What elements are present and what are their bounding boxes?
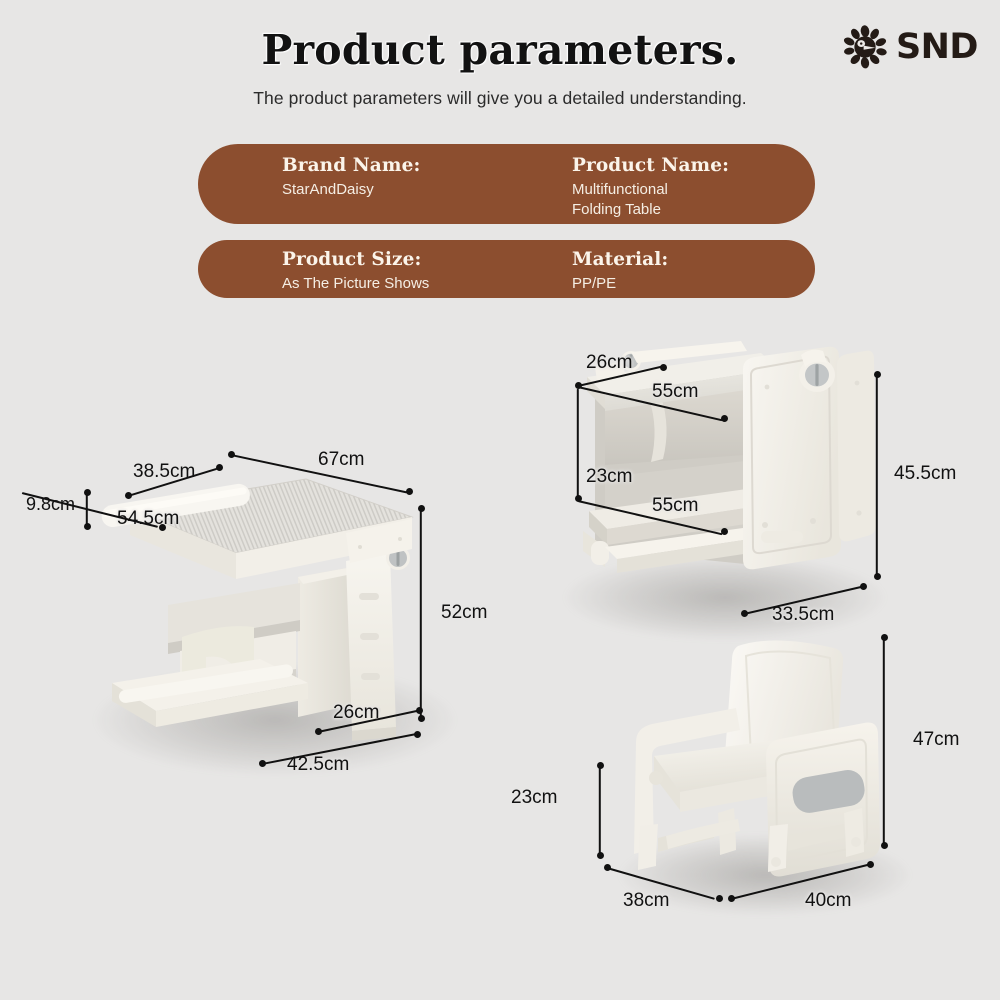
parameter-cell-product-size: Product Size: As The Picture Shows — [282, 240, 572, 294]
dim-line-desk-open-total-height — [420, 509, 422, 719]
dim-line-desk-folded-total-height — [876, 375, 878, 577]
parameter-row-2: Product Size: As The Picture Shows Mater… — [198, 240, 815, 298]
dim-dot — [874, 573, 881, 580]
dim-dot — [728, 895, 735, 902]
parameter-value: StarAndDaisy — [282, 180, 572, 200]
parameter-cell-material: Material: PP/PE — [572, 240, 802, 294]
dim-label-chair-seat-height: 23cm — [511, 787, 557, 809]
parameter-row-1: Brand Name: StarAndDaisy Product Name: M… — [198, 144, 815, 224]
dim-dot — [597, 852, 604, 859]
dim-label-desk-open-top-depth: 38.5cm — [133, 461, 195, 483]
parameter-label: Product Name: — [572, 154, 802, 177]
dim-dot — [414, 731, 421, 738]
parameter-label: Material: — [572, 248, 802, 271]
parameter-cell-brand-name: Brand Name: StarAndDaisy — [282, 144, 572, 200]
dim-dot — [418, 715, 425, 722]
dim-line-desk-folded-shelf-height — [577, 389, 579, 499]
dim-dot — [597, 762, 604, 769]
dim-dot — [874, 371, 881, 378]
dim-label-desk-folded-depth: 33.5cm — [772, 604, 834, 626]
dim-dot — [125, 492, 132, 499]
dim-dot — [881, 634, 888, 641]
dim-dot — [660, 364, 667, 371]
dim-line-chair-seat-height — [599, 766, 601, 856]
infographic-canvas: Product parameters. The product paramete… — [0, 0, 1000, 1000]
dim-label-desk-folded-shelf-height: 23cm — [586, 466, 632, 488]
parameter-value: As The Picture Shows — [282, 274, 572, 294]
dim-dot — [418, 505, 425, 512]
dim-label-chair-width: 40cm — [805, 890, 851, 912]
dim-line-chair-back-height — [883, 638, 885, 846]
dim-dot — [159, 524, 166, 531]
dim-dot — [84, 489, 91, 496]
dim-label-desk-folded-lower-width: 55cm — [652, 495, 698, 517]
page-subtitle: The product parameters will give you a d… — [0, 88, 1000, 109]
dim-dot — [84, 523, 91, 530]
dim-dot — [216, 464, 223, 471]
dim-dot — [259, 760, 266, 767]
dim-dot — [228, 451, 235, 458]
parameter-value: PP/PE — [572, 274, 802, 294]
dim-label-chair-depth: 38cm — [623, 890, 669, 912]
dim-label-desk-open-top-width: 67cm — [318, 449, 364, 471]
dim-dot — [881, 842, 888, 849]
dim-dot — [315, 728, 322, 735]
dim-dot — [741, 610, 748, 617]
dim-label-desk-folded-upper-width: 55cm — [652, 381, 698, 403]
parameter-cell-product-name: Product Name: Multifunctional Folding Ta… — [572, 144, 802, 220]
dim-label-desk-folded-total-height: 45.5cm — [894, 463, 956, 485]
dim-dot — [721, 415, 728, 422]
dim-dot — [406, 488, 413, 495]
dim-label-chair-back-height: 47cm — [913, 729, 959, 751]
parameter-label: Product Size: — [282, 248, 572, 271]
dim-dot — [716, 895, 723, 902]
dim-dot — [860, 583, 867, 590]
dim-dot — [416, 707, 423, 714]
product-illustration-desk-open — [60, 455, 460, 745]
dim-dot — [604, 864, 611, 871]
parameter-label: Brand Name: — [282, 154, 572, 177]
daisy-flower-icon — [843, 25, 887, 69]
dim-label-desk-open-total-height: 52cm — [441, 602, 487, 624]
dim-dot — [721, 528, 728, 535]
brand-logo: SND — [843, 25, 978, 69]
product-illustration-chair — [610, 630, 910, 880]
dim-label-desk-folded-top-depth: 26cm — [586, 352, 632, 374]
brand-wordmark: SND — [896, 27, 978, 67]
parameter-value: Multifunctional Folding Table — [572, 180, 802, 220]
dim-dot — [867, 861, 874, 868]
